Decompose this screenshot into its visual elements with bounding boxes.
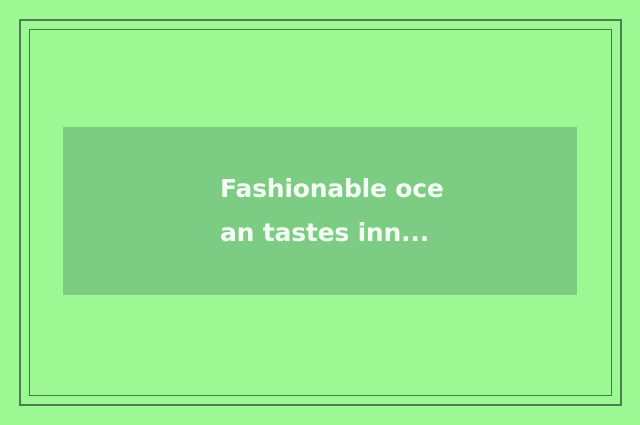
placeholder-card: Fashionable oce an tastes inn... [0,0,640,425]
caption-text-block: Fashionable oce an tastes inn... [220,127,430,295]
caption-panel: Fashionable oce an tastes inn... [63,127,577,295]
caption-line-1: Fashionable oce [220,167,430,211]
caption-line-2: an tastes inn... [220,211,430,255]
